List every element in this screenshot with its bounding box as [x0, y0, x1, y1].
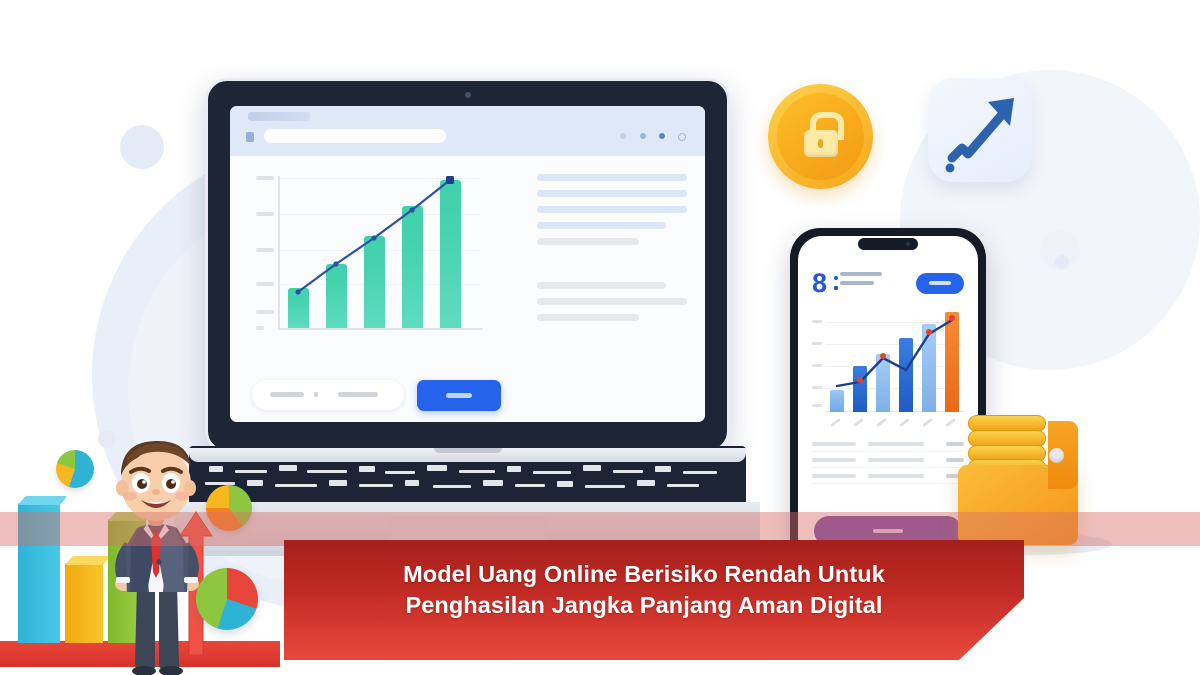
- submit-button-label: [446, 393, 472, 398]
- more-icon[interactable]: [620, 133, 626, 139]
- dot-icon[interactable]: [640, 133, 646, 139]
- laptop-form-row: [252, 380, 497, 410]
- background-blob: [1055, 255, 1069, 269]
- skeleton-line: [537, 314, 639, 321]
- laptop-growth-chart: [252, 170, 497, 355]
- skeleton-line: [537, 190, 687, 197]
- growth-arrow-icon: [928, 78, 1032, 182]
- browser-tab[interactable]: [248, 112, 310, 121]
- skeleton-line: [537, 282, 666, 289]
- phone-header-text: [840, 272, 882, 290]
- skeleton-line: [537, 238, 639, 245]
- laptop-screen: [230, 106, 705, 422]
- banner-title-line1: Model Uang Online Berisiko Rendah Untuk: [354, 559, 934, 590]
- phone-header: 8: [798, 262, 978, 306]
- list-item[interactable]: [812, 468, 964, 484]
- pie-small-top: [56, 450, 94, 488]
- background-blob: [120, 125, 164, 169]
- browser-toolbar: [230, 106, 705, 156]
- phone-notch: [858, 238, 918, 250]
- refresh-icon[interactable]: [678, 133, 686, 141]
- title-banner: Model Uang Online Berisiko Rendah Untuk …: [284, 540, 1024, 660]
- banner-title-line2: Penghasilan Jangka Panjang Aman Digital: [354, 590, 934, 621]
- chart-trend-line: [284, 176, 482, 328]
- webcam-icon: [465, 92, 471, 98]
- skeleton-line: [537, 298, 687, 305]
- list-item[interactable]: [812, 436, 964, 452]
- laptop-lid: [205, 78, 730, 453]
- list-item[interactable]: [812, 452, 964, 468]
- phone-trend-line: [812, 312, 964, 428]
- businessman-mascot: [97, 432, 215, 675]
- phone-action-button-label: [929, 281, 951, 285]
- illustration-scene: 8: [0, 0, 1200, 675]
- browser-content: [230, 156, 705, 422]
- address-bar-input[interactable]: [264, 129, 446, 143]
- banner-title: Model Uang Online Berisiko Rendah Untuk …: [354, 559, 934, 621]
- app-logo: 8: [812, 270, 832, 296]
- phone-action-button[interactable]: [916, 273, 964, 294]
- padlock-coin-icon: [768, 84, 873, 189]
- profile-icon[interactable]: [659, 133, 665, 139]
- search-input[interactable]: [252, 380, 404, 410]
- skeleton-line: [537, 174, 687, 181]
- content-skeleton: [537, 174, 687, 330]
- submit-button[interactable]: [417, 380, 501, 411]
- skeleton-line: [537, 206, 687, 213]
- laptop-device: [205, 78, 730, 478]
- site-info-icon: [246, 132, 254, 142]
- skeleton-line: [537, 222, 666, 229]
- phone-list: [812, 436, 964, 484]
- phone-revenue-chart: [812, 312, 964, 428]
